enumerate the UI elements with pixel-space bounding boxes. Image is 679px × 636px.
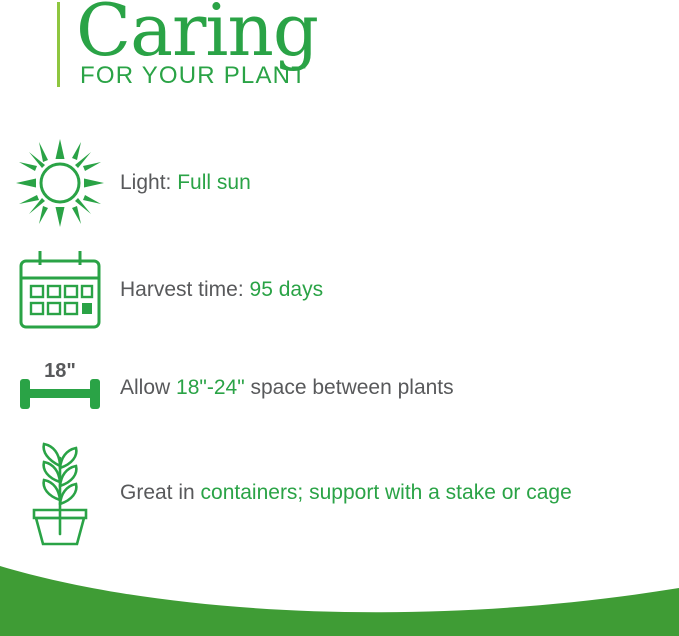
care-row-spacing-label-after: space between plants: [251, 376, 454, 399]
care-row-harvest: Harvest time: 95 days: [0, 238, 679, 342]
calendar-icon: [0, 247, 120, 333]
sun-icon: [0, 137, 120, 229]
care-row-light: Light: Full sun: [0, 128, 679, 238]
care-row-spacing-value: 18"-24": [176, 376, 245, 399]
care-row-light-label: Light:: [120, 171, 171, 194]
care-row-light-value: Full sun: [177, 171, 251, 194]
care-row-harvest-label: Harvest time:: [120, 278, 244, 301]
header-accent-rule: [57, 2, 60, 87]
care-row-container-value: containers; support with a stake or cage: [201, 481, 572, 504]
spacing-icon-label: 18": [44, 360, 76, 382]
care-row-spacing-label: Allow: [120, 376, 170, 399]
page-title: Caring: [76, 0, 318, 70]
care-row-container-label: Great in: [120, 481, 195, 504]
care-row-harvest-text: Harvest time: 95 days: [120, 276, 353, 304]
care-list: Light: Full sun: [0, 128, 679, 552]
page-subtitle: FOR YOUR PLANT: [80, 62, 307, 90]
care-row-container-text: Great in containers; support with a stak…: [120, 479, 602, 507]
care-row-harvest-value: 95 days: [250, 278, 324, 301]
care-row-spacing-text: Allow 18"-24" space between plants: [120, 374, 484, 402]
care-row-spacing: 18" Allow 18"-24" space between plants: [0, 342, 679, 434]
spacing-ruler-icon: 18": [0, 357, 120, 419]
header: Caring FOR YOUR PLANT: [0, 0, 679, 110]
bottom-swoosh: [0, 526, 679, 636]
care-row-light-text: Light: Full sun: [120, 169, 281, 197]
